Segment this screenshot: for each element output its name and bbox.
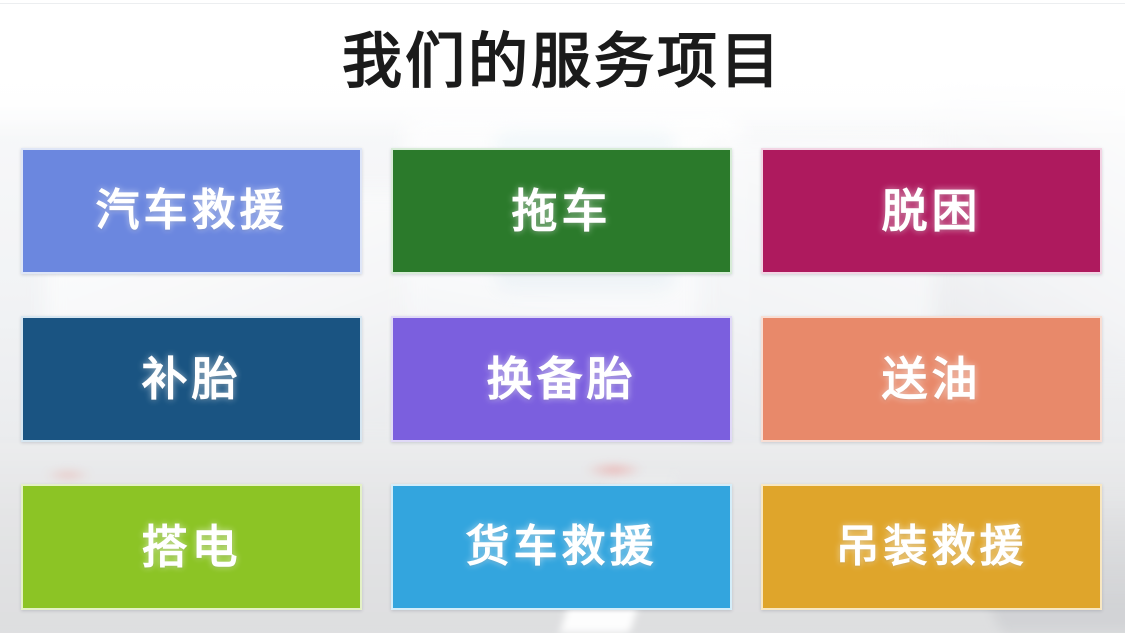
service-tile-towing[interactable]: 拖车 <box>391 148 732 274</box>
service-tile-tire-repair[interactable]: 补胎 <box>21 316 362 442</box>
service-tile-label: 拖车 <box>512 188 612 234</box>
service-tile-label: 汽车救援 <box>96 189 288 233</box>
service-poster: 我们的服务项目 汽车救援拖车脱困补胎换备胎送油搭电货车救援吊装救援 <box>0 0 1125 633</box>
service-tile-fuel-delivery[interactable]: 送油 <box>761 316 1102 442</box>
service-tile-label: 货车救援 <box>466 525 658 569</box>
service-tile-label: 补胎 <box>142 356 242 402</box>
page-title: 我们的服务项目 <box>0 26 1125 98</box>
service-tile-label: 送油 <box>882 356 982 402</box>
service-grid: 汽车救援拖车脱困补胎换备胎送油搭电货车救援吊装救援 <box>21 148 1103 610</box>
service-tile-label: 吊装救援 <box>836 525 1028 569</box>
service-tile-label: 脱困 <box>882 188 982 234</box>
background-top-hairline <box>0 3 1125 4</box>
service-tile-jump-start[interactable]: 搭电 <box>21 484 362 610</box>
service-tile-spare-tire-change[interactable]: 换备胎 <box>391 316 732 442</box>
service-tile-truck-rescue[interactable]: 货车救援 <box>391 484 732 610</box>
service-tile-car-rescue[interactable]: 汽车救援 <box>21 148 362 274</box>
service-tile-label: 换备胎 <box>487 356 637 402</box>
service-tile-crane-rescue[interactable]: 吊装救援 <box>761 484 1102 610</box>
service-tile-label: 搭电 <box>142 524 242 570</box>
service-tile-extrication[interactable]: 脱困 <box>761 148 1102 274</box>
